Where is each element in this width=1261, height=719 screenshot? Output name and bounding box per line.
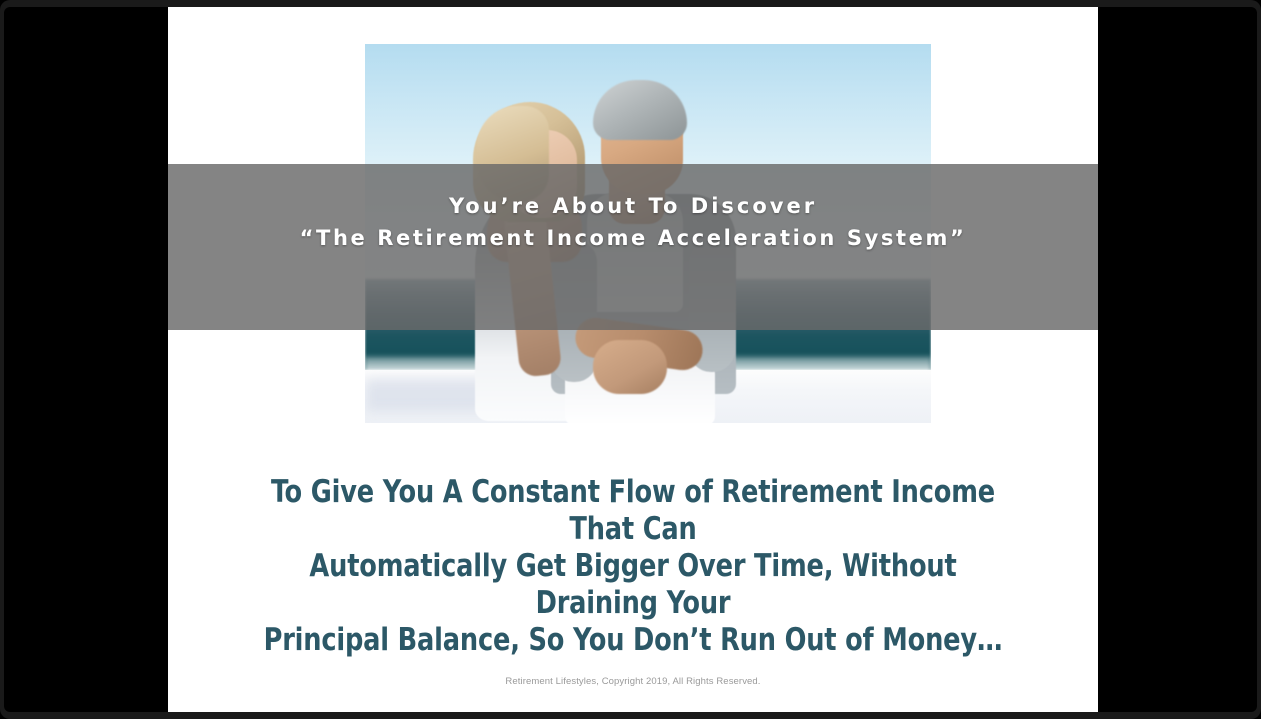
- headline-line-1: To Give You A Constant Flow of Retiremen…: [249, 474, 1016, 548]
- overlay-title-line-2: “The Retirement Income Acceleration Syst…: [300, 224, 967, 252]
- headline-line-3: Principal Balance, So You Don’t Run Out …: [249, 622, 1016, 659]
- title-overlay-band: You’re About To Discover “The Retirement…: [168, 164, 1098, 330]
- video-player-frame: You’re About To Discover “The Retirement…: [0, 0, 1261, 719]
- clasped-hands: [593, 340, 667, 394]
- man-hair: [593, 80, 687, 140]
- presentation-slide: You’re About To Discover “The Retirement…: [168, 7, 1098, 712]
- overlay-title-line-1: You’re About To Discover: [449, 192, 817, 220]
- letterbox-area: You’re About To Discover “The Retirement…: [4, 7, 1257, 712]
- copyright-footer: Retirement Lifestyles, Copyright 2019, A…: [168, 676, 1098, 687]
- headline-line-2: Automatically Get Bigger Over Time, With…: [249, 548, 1016, 622]
- main-headline: To Give You A Constant Flow of Retiremen…: [249, 474, 1016, 659]
